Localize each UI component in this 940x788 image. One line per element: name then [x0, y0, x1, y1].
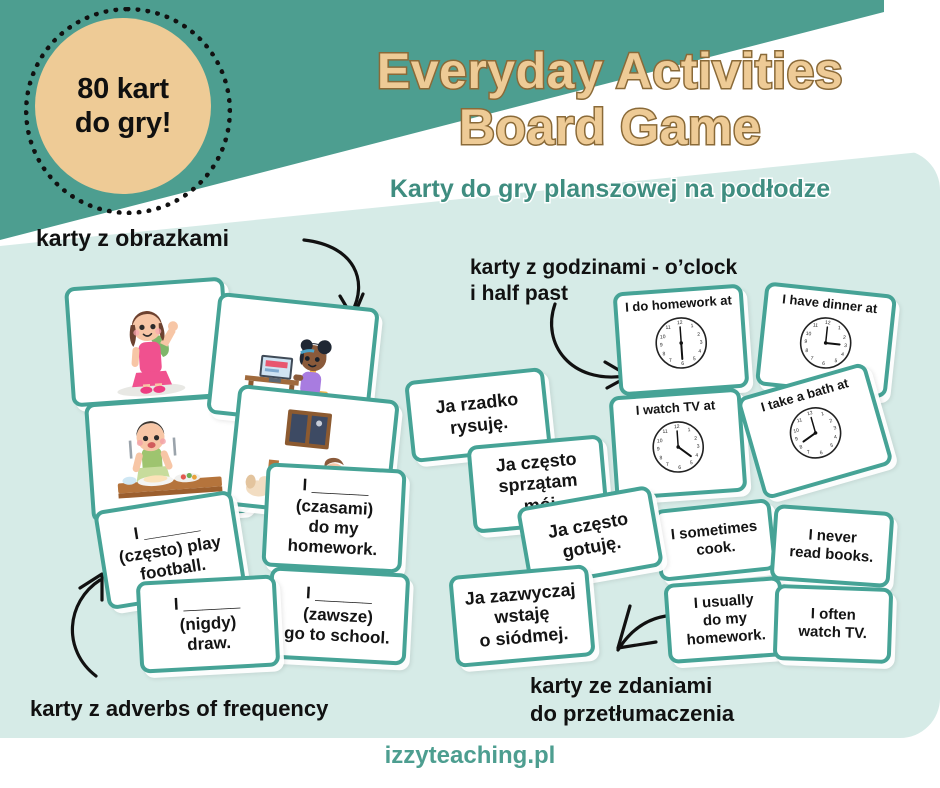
clock-card-label: I do homework at [625, 293, 733, 315]
adverb-card-sometimes-homework[interactable]: I ______ (czasami) do my homework. [261, 462, 406, 573]
clock-card-watch-tv[interactable]: I watch TV at 1212 345 678 91011 [609, 388, 748, 501]
polish-line-1: Ja zazwyczaj [464, 579, 576, 609]
clock-card-homework[interactable]: I do homework at 1212 345 678 91011 [613, 284, 750, 397]
svg-text:9: 9 [657, 446, 660, 452]
adverb-line-3: go to school. [284, 623, 391, 648]
svg-text:8: 8 [659, 455, 662, 461]
badge-80-cards: 80 kart do gry! [35, 18, 211, 194]
label-sentence-line-1: karty ze zdaniami [530, 673, 712, 698]
svg-text:8: 8 [662, 351, 665, 357]
adverb-line-3: draw. [187, 633, 232, 654]
svg-text:7: 7 [666, 461, 669, 467]
adverb-card-always-school[interactable]: I ______ (zawsze) go to school. [266, 566, 411, 665]
badge-line-2: do gry! [75, 107, 171, 139]
poster-canvas: 80 kart do gry! Everyday Activities Boar… [0, 0, 940, 788]
svg-text:3: 3 [697, 443, 700, 449]
svg-text:10: 10 [805, 330, 811, 337]
english-line-2: cook. [696, 538, 737, 559]
english-card-text: I never read books. [789, 525, 876, 567]
english-card-often-watch-tv[interactable]: I often watch TV. [773, 584, 894, 664]
polish-card-text: Ja zazwyczaj wstaję o siódmej. [464, 579, 580, 653]
adverb-line-2: (czasami) [295, 496, 373, 519]
english-card-usually-homework[interactable]: I usually do my homework. [663, 576, 786, 664]
svg-text:3: 3 [700, 339, 703, 345]
adverb-line-3: do my [308, 517, 359, 539]
badge-text: 80 kart do gry! [75, 72, 171, 140]
label-clock-line-1: karty z godzinami - o’clock [470, 256, 737, 279]
clock-face-dinner: 1212 345 678 91011 [794, 311, 858, 375]
english-card-sometimes-cook[interactable]: I sometimes cook. [653, 498, 778, 582]
title-line-1: Everyday Activities [300, 42, 920, 100]
clock-face-homework: 1212 345 678 91011 [650, 312, 712, 374]
svg-text:7: 7 [669, 357, 672, 363]
svg-text:11: 11 [665, 324, 671, 330]
adverb-card-text: I ______ (często) play football. [114, 512, 225, 589]
english-line-2: read books. [789, 543, 874, 566]
english-card-text: I sometimes cook. [670, 518, 760, 563]
label-picture-cards: karty z obrazkami [36, 224, 229, 253]
label-sentence-line-2: do przetłumaczenia [530, 701, 734, 726]
adverb-line-2: (nigdy) [179, 612, 237, 634]
svg-text:5: 5 [693, 356, 696, 362]
english-line-1: I never [808, 526, 857, 546]
english-card-text: I usually do my homework. [684, 590, 767, 649]
label-adverb-cards: karty z adverbs of frequency [30, 695, 328, 723]
english-line-1: I often [811, 605, 857, 624]
svg-text:1: 1 [690, 323, 693, 329]
svg-text:6: 6 [678, 464, 681, 470]
svg-text:10: 10 [660, 334, 666, 340]
svg-text:10: 10 [657, 438, 663, 444]
svg-text:6: 6 [681, 360, 684, 366]
adverb-line-1: I ______ [302, 476, 369, 498]
english-card-text: I often watch TV. [798, 605, 868, 643]
svg-text:12: 12 [677, 319, 683, 325]
polish-card-text: Ja rzadko rysuję. [434, 389, 521, 441]
title-line-2: Board Game [300, 98, 920, 156]
svg-text:11: 11 [813, 322, 819, 329]
polish-line-2: rysuję. [449, 412, 509, 438]
adverb-line-4: homework. [287, 536, 378, 560]
svg-text:2: 2 [694, 435, 697, 441]
english-line-3: homework. [686, 626, 766, 648]
svg-text:12: 12 [825, 319, 831, 326]
footer-site[interactable]: izzyteaching.pl [0, 742, 940, 770]
girl-waving-illustration [68, 281, 227, 403]
clock-face-watch-tv: 1212 345 678 91011 [647, 416, 709, 478]
picture-card-girl-waving[interactable] [64, 277, 232, 408]
svg-text:5: 5 [690, 460, 693, 466]
svg-text:4: 4 [695, 452, 698, 458]
svg-text:11: 11 [662, 428, 668, 434]
svg-text:1: 1 [687, 427, 690, 433]
subtitle: Karty do gry planszowej na podłodze [300, 175, 920, 204]
adverb-line-1: I ______ [173, 592, 240, 614]
svg-text:2: 2 [697, 331, 700, 337]
polish-line-3: o siódmej. [479, 623, 569, 651]
svg-text:4: 4 [698, 348, 701, 354]
svg-text:12: 12 [674, 423, 680, 429]
polish-card-text: Ja często gotuję. [546, 509, 633, 566]
polish-line-2: wstaję [494, 603, 551, 628]
badge-line-1: 80 kart [77, 73, 168, 105]
english-line-2: do my [702, 609, 747, 629]
adverb-card-text: I ______ (nigdy) draw. [173, 592, 242, 657]
adverb-line-2: (zawsze) [303, 604, 374, 627]
adverb-card-text: I ______ (czasami) do my homework. [287, 475, 381, 561]
label-sentence-cards: karty ze zdaniami do przetłumaczenia [530, 672, 734, 727]
polish-card-zazwyczaj-wstaje[interactable]: Ja zazwyczaj wstaję o siódmej. [448, 564, 595, 668]
adverb-card-never-draw[interactable]: I ______ (nigdy) draw. [136, 574, 281, 673]
english-card-never-read[interactable]: I never read books. [769, 504, 894, 588]
english-line-2: watch TV. [798, 623, 867, 642]
adverb-card-text: I ______ (zawsze) go to school. [284, 583, 393, 650]
svg-text:9: 9 [660, 342, 663, 348]
adverb-line-1: I ______ [306, 584, 373, 606]
